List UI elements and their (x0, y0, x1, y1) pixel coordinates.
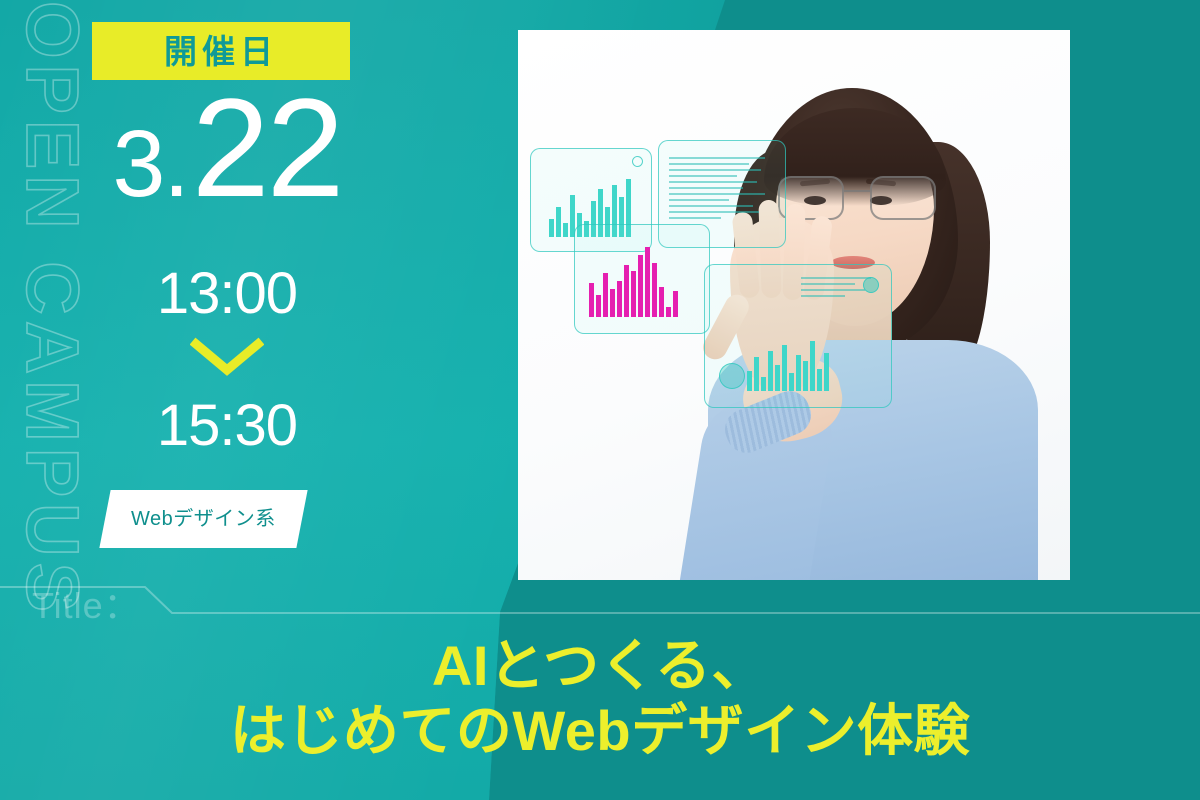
event-photo-image (518, 30, 1070, 580)
glasses-lens-right (870, 176, 936, 220)
event-time-end: 15:30 (92, 397, 362, 455)
holo-pie-chart-icon (719, 363, 745, 389)
holo-magenta-bar-chart-panel (574, 224, 710, 334)
event-date-badge-label: 開催日 (164, 35, 278, 68)
title-label: Title： (32, 588, 141, 624)
holo-text-lines (669, 157, 773, 219)
headline-line-2: はじめてのWebデザイン体験 (0, 699, 1200, 764)
holo-globe-icon (863, 277, 879, 293)
event-day: 22 (192, 78, 342, 218)
event-date: 3. 22 (92, 78, 362, 238)
event-category-label: Webデザイン系 (131, 509, 276, 529)
event-category-badge: Webデザイン系 (99, 490, 307, 548)
chevron-down-icon (190, 336, 264, 378)
glasses-bridge (844, 190, 870, 192)
event-month: 3. (113, 117, 188, 212)
holo-analytics-dashboard-panel (704, 264, 892, 408)
event-photo (518, 30, 1070, 580)
holo-magenta-bars (589, 243, 678, 317)
holo-status-dot (632, 156, 643, 167)
date-info-column: 開催日 3. 22 13:00 15:30 Webデザイン系 (0, 0, 470, 600)
headline-line-1: AIとつくる、 (0, 634, 1200, 699)
event-banner: OPEN CAMPUS 開催日 3. 22 13:00 15:30 Webデザイ… (0, 0, 1200, 800)
holo-dashboard-bars (747, 339, 829, 391)
event-time-start: 13:00 (92, 265, 362, 323)
time-range-separator (92, 336, 362, 378)
page-title: AIとつくる、 はじめてのWebデザイン体験 (0, 634, 1200, 764)
